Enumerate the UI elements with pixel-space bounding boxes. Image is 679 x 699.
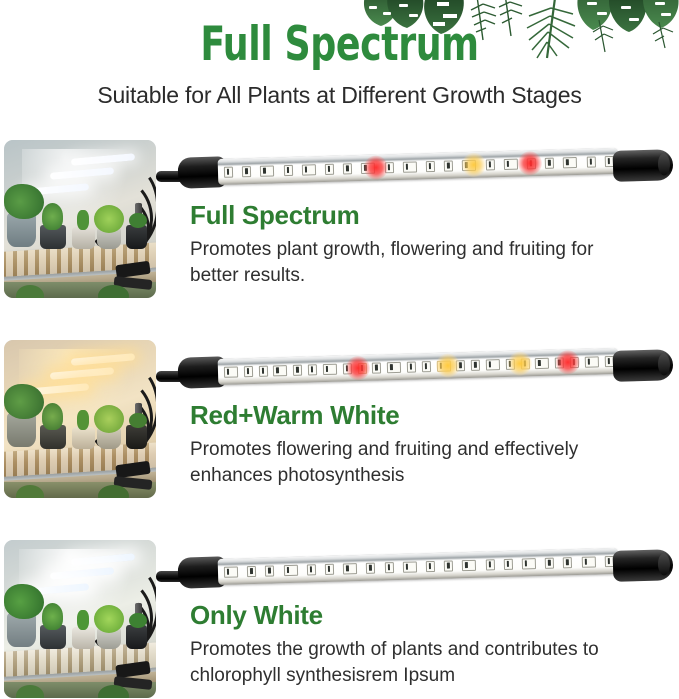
led-tube [218,548,619,585]
right-end-cap [613,349,674,382]
page-subtitle: Suitable for All Plants at Different Gro… [0,82,679,109]
thumbnail-red-warm-white [4,340,156,498]
text-block-red-warm-white: Red+Warm White Promotes flowering and fr… [190,400,630,489]
section-heading: Red+Warm White [190,400,630,431]
thumbnail-only-white [4,540,156,698]
page-title: Full Spectrum [48,20,632,69]
thumbnail-full-spectrum [4,140,156,298]
led-bar-full-spectrum [156,148,675,196]
section-body: Promotes plant growth, flowering and fru… [190,237,630,289]
section-heading: Only White [190,600,630,631]
section-body: Promotes the growth of plants and contri… [190,637,630,689]
header-banner: Full Spectrum Suitable for All Plants at… [0,0,679,122]
right-end-cap [613,149,674,182]
led-tube [218,348,619,385]
text-block-only-white: Only White Promotes the growth of plants… [190,600,630,689]
led-tube [218,148,619,185]
led-bar-red-warm-white [156,348,675,396]
section-body: Promotes flowering and fruiting and effe… [190,437,630,489]
right-end-cap [613,549,674,582]
led-bar-only-white [156,548,675,596]
section-heading: Full Spectrum [190,200,630,231]
text-block-full-spectrum: Full Spectrum Promotes plant growth, flo… [190,200,630,289]
